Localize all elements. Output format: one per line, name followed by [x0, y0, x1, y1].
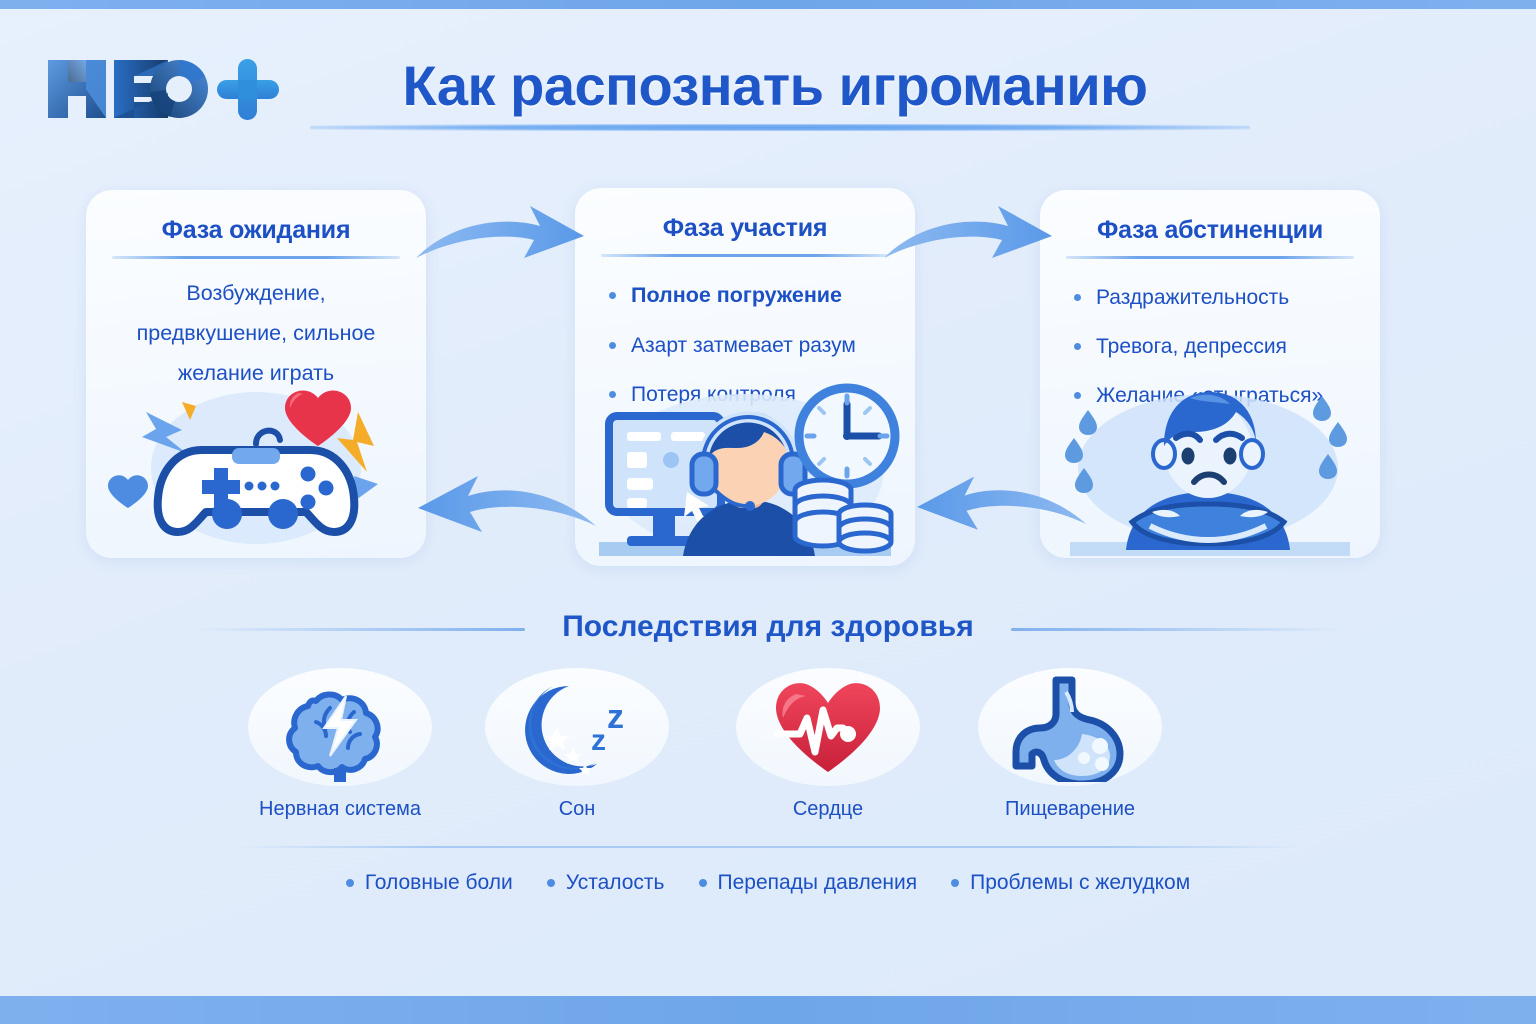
- health-item-digestion[interactable]: Пищеварение: [945, 668, 1195, 821]
- symptom-label: Проблемы с желудком: [970, 871, 1190, 895]
- gamer-monitor-clock-coins-icon: [575, 374, 915, 564]
- phase-title: Фаза участия: [575, 214, 915, 243]
- bullet-dot: [609, 292, 616, 299]
- bullet-dot: [346, 879, 354, 887]
- bullet-dot: [1074, 343, 1081, 350]
- phase-title: Фаза абстиненции: [1040, 216, 1380, 245]
- phase-card-withdrawal[interactable]: Фаза абстиненции Раздражительность Трево…: [1040, 190, 1380, 558]
- section-title: Последствия для здоровья: [0, 610, 1536, 644]
- bullet-dot: [609, 342, 616, 349]
- bullet-label: Раздражительность: [1096, 286, 1289, 309]
- phase-card-participation[interactable]: Фаза участия Полное погружение Азарт зат…: [575, 188, 915, 566]
- gamepad-hearts-lightning-icon: [86, 376, 426, 556]
- symptoms-divider: [236, 846, 1302, 848]
- phase-title: Фаза ожидания: [86, 216, 426, 245]
- card-divider: [112, 256, 400, 259]
- bullet-label: Тревога, депрессия: [1096, 335, 1287, 358]
- health-item-sleep[interactable]: z z Сон: [452, 668, 702, 821]
- brain-lightning-icon: [248, 668, 432, 786]
- title-underline: [310, 124, 1250, 131]
- list-item: Тревога, депрессия: [1072, 335, 1362, 358]
- bullet-dot: [1074, 294, 1081, 301]
- bullet-dot: [951, 879, 959, 887]
- symptom-item: Усталость: [547, 871, 665, 895]
- health-label: Сон: [452, 798, 702, 821]
- flow-arrow-right-2: [880, 196, 1060, 268]
- phase-cards: Фаза ожидания Возбуждение, предвкушение,…: [0, 190, 1536, 570]
- bottom-band: [0, 996, 1536, 1024]
- bullet-dot: [547, 879, 555, 887]
- neo-plus-logo: [40, 50, 300, 130]
- svg-text:z: z: [607, 698, 624, 736]
- heart-ecg-icon: [736, 668, 920, 786]
- flow-arrow-right-1: [412, 196, 592, 268]
- symptom-item: Головные боли: [346, 871, 513, 895]
- flow-arrow-left-2: [900, 468, 1090, 546]
- card-divider: [1066, 256, 1354, 259]
- bullet-dot: [699, 879, 707, 887]
- page-title: Как распознать игроманию: [300, 58, 1250, 114]
- moon-zzz-icon: z z: [485, 668, 669, 786]
- symptom-label: Усталость: [566, 871, 665, 895]
- bullet-label: Полное погружение: [631, 283, 842, 307]
- consequences-header: Последствия для здоровья: [0, 606, 1536, 666]
- symptom-label: Перепады давления: [718, 871, 918, 895]
- infographic-canvas: Как распознать игроманию Фаза ожидания В…: [0, 0, 1536, 1024]
- stomach-icon: [978, 668, 1162, 786]
- health-label: Нервная система: [215, 798, 465, 821]
- top-band: [0, 0, 1536, 9]
- section-rule-right: [1011, 628, 1341, 631]
- symptom-item: Проблемы с желудком: [951, 871, 1190, 895]
- health-item-heart[interactable]: Сердце: [703, 668, 953, 821]
- bullet-label: Азарт затмевает разум: [631, 334, 856, 357]
- svg-text:z: z: [591, 724, 606, 757]
- symptom-item: Перепады давления: [699, 871, 918, 895]
- health-label: Сердце: [703, 798, 953, 821]
- sad-person-sweat-icon: [1040, 376, 1380, 556]
- symptoms-row: Головные боли Усталость Перепады давлени…: [0, 862, 1536, 904]
- symptom-label: Головные боли: [365, 871, 513, 895]
- health-item-nervous-system[interactable]: Нервная система: [215, 668, 465, 821]
- list-item: Азарт затмевает разум: [607, 334, 897, 357]
- health-icons-row: Нервная система z z Сон: [0, 668, 1536, 838]
- health-label: Пищеварение: [945, 798, 1195, 821]
- card-divider: [601, 254, 889, 257]
- list-item: Раздражительность: [1072, 286, 1362, 309]
- list-item: Полное погружение: [607, 284, 897, 308]
- flow-arrow-left-1: [400, 468, 600, 548]
- phase-card-anticipation[interactable]: Фаза ожидания Возбуждение, предвкушение,…: [86, 190, 426, 558]
